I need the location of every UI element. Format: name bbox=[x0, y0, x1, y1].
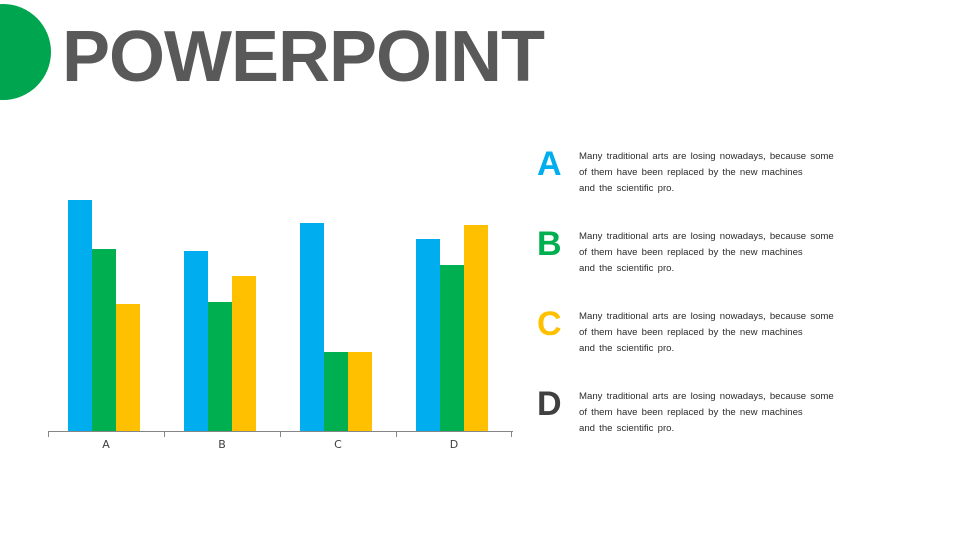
bar-group bbox=[300, 200, 384, 431]
chart-category-label: A bbox=[48, 438, 164, 451]
legend-marker-c: C bbox=[533, 304, 579, 344]
legend-text-line: and the scientific pro. bbox=[579, 181, 953, 197]
chart-plot-area bbox=[48, 200, 513, 431]
legend-description: Many traditional arts are losing nowaday… bbox=[579, 304, 953, 357]
bar[interactable] bbox=[92, 249, 116, 431]
bar[interactable] bbox=[232, 276, 256, 431]
legend-marker-d: D bbox=[533, 384, 579, 424]
legend-description: Many traditional arts are losing nowaday… bbox=[579, 144, 953, 197]
bar-group bbox=[68, 200, 152, 431]
legend-list: AMany traditional arts are losing nowada… bbox=[533, 144, 953, 444]
bar-chart: ABCD bbox=[40, 200, 520, 460]
bar[interactable] bbox=[464, 225, 488, 431]
chart-axis-tick bbox=[280, 431, 281, 437]
bar[interactable] bbox=[116, 304, 140, 431]
legend-text-line: of them have been replaced by the new ma… bbox=[579, 405, 953, 421]
bar[interactable] bbox=[440, 265, 464, 431]
legend-text-line: Many traditional arts are losing nowaday… bbox=[579, 149, 953, 165]
bar[interactable] bbox=[184, 251, 208, 431]
chart-axis-tick bbox=[396, 431, 397, 437]
legend-text-line: of them have been replaced by the new ma… bbox=[579, 165, 953, 181]
legend-item-c[interactable]: CMany traditional arts are losing nowada… bbox=[533, 304, 953, 366]
bar[interactable] bbox=[416, 239, 440, 431]
legend-text-line: and the scientific pro. bbox=[579, 421, 953, 437]
brand-circle-decoration bbox=[0, 4, 51, 100]
legend-item-d[interactable]: DMany traditional arts are losing nowada… bbox=[533, 384, 953, 446]
chart-category-label: D bbox=[396, 438, 512, 451]
legend-item-b[interactable]: BMany traditional arts are losing nowada… bbox=[533, 224, 953, 286]
legend-text-line: and the scientific pro. bbox=[579, 261, 953, 277]
chart-axis-end-tick bbox=[48, 431, 49, 437]
bar[interactable] bbox=[324, 352, 348, 431]
page-title: POWERPOINT bbox=[62, 14, 544, 100]
slide-header: POWERPOINT bbox=[0, 0, 960, 118]
chart-category-label: B bbox=[164, 438, 280, 451]
legend-item-a[interactable]: AMany traditional arts are losing nowada… bbox=[533, 144, 953, 206]
bar[interactable] bbox=[348, 352, 372, 431]
bar[interactable] bbox=[300, 223, 324, 431]
chart-axis-end-tick bbox=[511, 431, 512, 437]
chart-axis-tick bbox=[164, 431, 165, 437]
legend-text-line: Many traditional arts are losing nowaday… bbox=[579, 389, 953, 405]
legend-marker-b: B bbox=[533, 224, 579, 264]
bar[interactable] bbox=[208, 302, 232, 431]
legend-text-line: Many traditional arts are losing nowaday… bbox=[579, 309, 953, 325]
legend-text-line: Many traditional arts are losing nowaday… bbox=[579, 229, 953, 245]
legend-marker-a: A bbox=[533, 144, 579, 184]
chart-category-labels: ABCD bbox=[48, 438, 513, 458]
legend-text-line: and the scientific pro. bbox=[579, 341, 953, 357]
legend-description: Many traditional arts are losing nowaday… bbox=[579, 384, 953, 437]
bar[interactable] bbox=[68, 200, 92, 431]
chart-category-label: C bbox=[280, 438, 396, 451]
legend-description: Many traditional arts are losing nowaday… bbox=[579, 224, 953, 277]
legend-text-line: of them have been replaced by the new ma… bbox=[579, 325, 953, 341]
legend-text-line: of them have been replaced by the new ma… bbox=[579, 245, 953, 261]
bar-group bbox=[184, 200, 268, 431]
bar-group bbox=[416, 200, 500, 431]
